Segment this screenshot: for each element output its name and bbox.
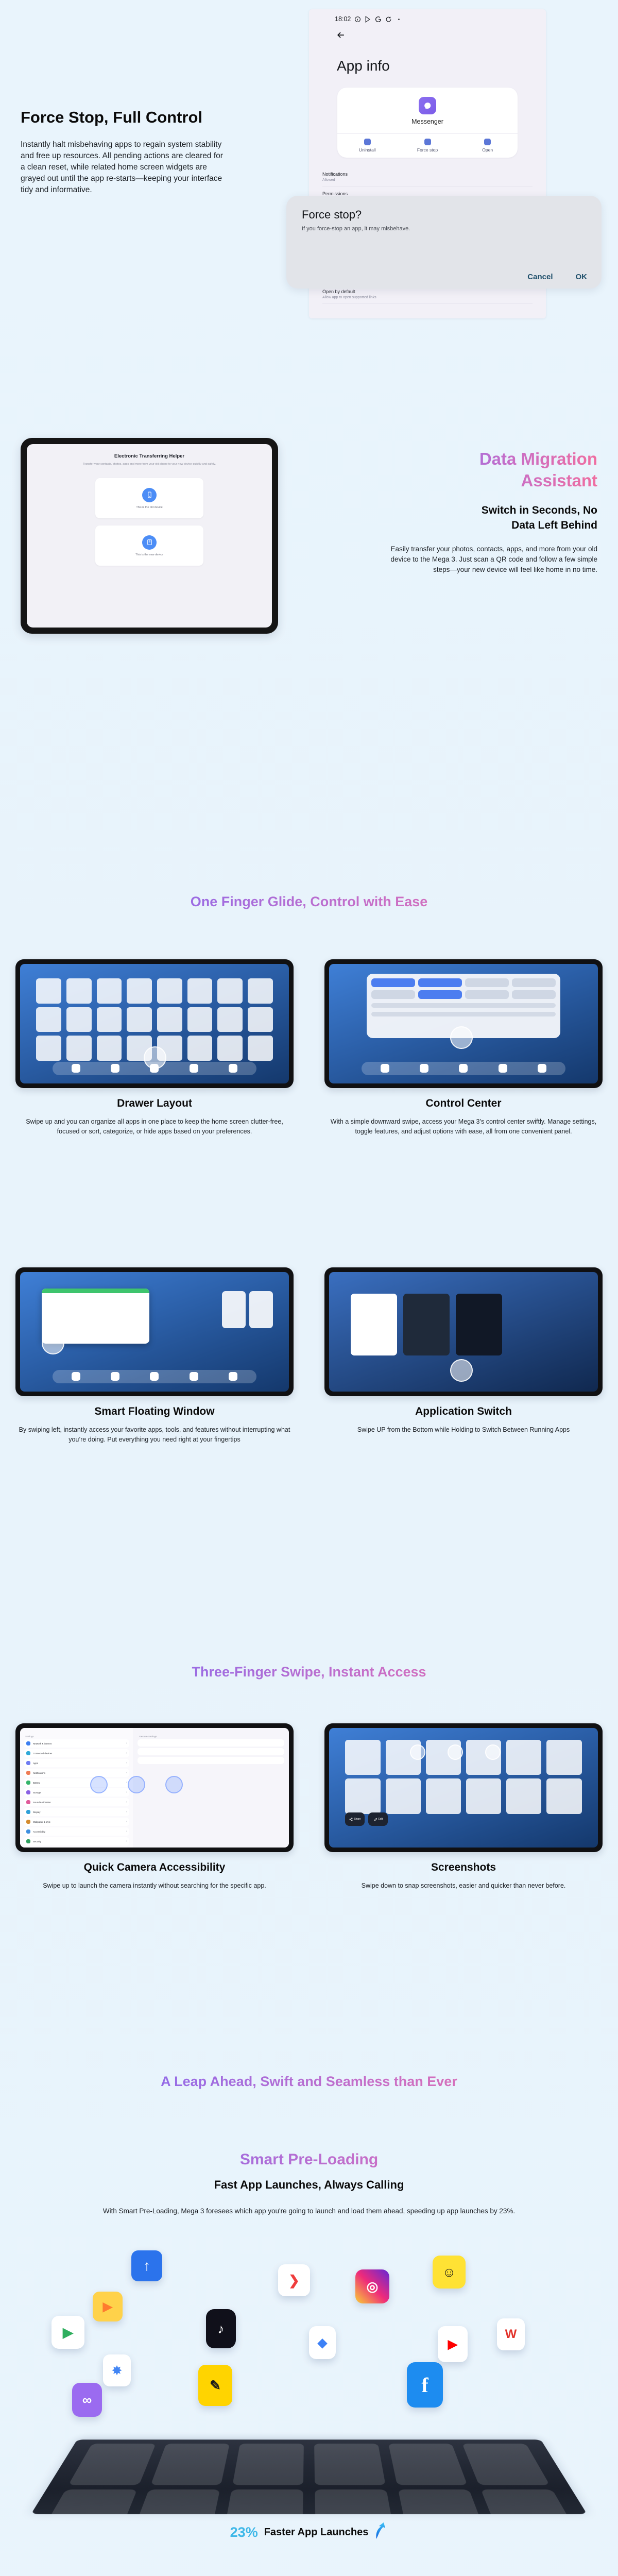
- app-icon[interactable]: [36, 978, 61, 1004]
- instagram-icon: ◎: [355, 2269, 389, 2303]
- app-icon[interactable]: [386, 1778, 421, 1814]
- app-icon[interactable]: [127, 1007, 152, 1032]
- tile-dnd[interactable]: [465, 978, 509, 987]
- tile-battery-saver[interactable]: [512, 990, 556, 999]
- app-icon[interactable]: [36, 1036, 61, 1061]
- chevron-right-icon: ›: [126, 1791, 127, 1794]
- control-center-caption: Control Center: [324, 1097, 603, 1110]
- settings-row-label: Security: [33, 1840, 41, 1843]
- status-bar: 18:02: [309, 9, 546, 23]
- card-application-switch: Application Switch Swipe UP from the Bot…: [324, 1267, 603, 1435]
- one-finger-heading-wrap: One Finger Glide, Control with Ease: [0, 894, 618, 910]
- app-icon[interactable]: [66, 978, 92, 1004]
- three-finger-indicator-3: [165, 1776, 183, 1793]
- preloading-stat-label: Faster App Launches: [264, 2527, 369, 2538]
- app-icon[interactable]: [150, 2444, 230, 2485]
- settings-row[interactable]: Apps›: [24, 1759, 129, 1767]
- settings-row-label: Sound & vibration: [33, 1801, 51, 1804]
- preloading-title-wrap: Smart Pre-Loading: [0, 2151, 618, 2168]
- three-finger-indicator-2: [128, 1776, 145, 1793]
- app-icon[interactable]: [97, 1036, 122, 1061]
- app-icon[interactable]: [462, 2444, 550, 2485]
- dock-icon[interactable]: [459, 1064, 468, 1073]
- preloading-stat: 23% Faster App Launches: [0, 2522, 618, 2543]
- control-center-body: With a simple downward swipe, access you…: [324, 1117, 603, 1137]
- game-icon: ☺: [433, 2256, 466, 2289]
- old-device-icon: [142, 488, 157, 502]
- app-icon[interactable]: [345, 1778, 380, 1814]
- tile-hotspot[interactable]: [465, 990, 509, 999]
- wps-office-icon: W: [497, 2318, 525, 2350]
- force-stop-button[interactable]: Force stop: [398, 134, 458, 158]
- notes-icon: ✎: [198, 2365, 232, 2406]
- migration-screen-sub: Transfer your contacts, photos, apps and…: [72, 462, 227, 467]
- three-finger-indicator-1: [90, 1776, 108, 1793]
- dock-icon[interactable]: [190, 1064, 198, 1073]
- recent-card[interactable]: [351, 1294, 397, 1355]
- three-finger-indicator-1: [410, 1744, 425, 1760]
- swipe-up-indicator: [144, 1046, 166, 1069]
- dock-icon[interactable]: [381, 1064, 389, 1073]
- settings-row[interactable]: Wallpaper & style›: [24, 1818, 129, 1826]
- preloading-title: Smart Pre-Loading: [0, 2151, 618, 2168]
- app-icon[interactable]: [68, 2444, 156, 2485]
- device-frame: Share Edit: [324, 1723, 603, 1852]
- tile-rotate[interactable]: [371, 990, 415, 999]
- network-icon: [26, 1741, 30, 1745]
- dialog-actions: Cancel OK: [527, 273, 587, 281]
- app-icon[interactable]: [129, 2489, 220, 2514]
- section-app-force-stop: App Force Stop Force Stop, Full Control …: [0, 0, 618, 428]
- dock-icon[interactable]: [538, 1064, 546, 1073]
- settings-list-pane: Settings Network & internet› Connected d…: [20, 1728, 133, 1848]
- detail-row[interactable]: [138, 1739, 284, 1747]
- dock-icon[interactable]: [72, 1372, 80, 1381]
- open-button[interactable]: Open: [457, 134, 518, 158]
- app-icon[interactable]: [466, 1778, 501, 1814]
- device-screen: [20, 964, 289, 1083]
- app-icon[interactable]: [248, 978, 273, 1004]
- tablet-3d-mockup: [31, 2439, 587, 2514]
- card-drawer-layout: Drawer Layout Swipe up and you can organ…: [15, 959, 294, 1137]
- tile-flashlight[interactable]: [512, 978, 556, 987]
- app-icon[interactable]: [66, 1036, 92, 1061]
- preloading-subtitle: Fast App Launches, Always Calling: [0, 2178, 618, 2192]
- settings-detail-label: Gesture Settings: [139, 1735, 284, 1738]
- battery-icon: [26, 1781, 30, 1785]
- play-store-icon: [365, 16, 371, 23]
- app-icon[interactable]: [388, 2444, 468, 2485]
- recent-card[interactable]: [222, 1291, 246, 1328]
- app-icon[interactable]: [36, 1007, 61, 1032]
- old-device-label: This is the old device: [136, 506, 162, 509]
- dock-icon[interactable]: [229, 1064, 237, 1073]
- device-frame: [15, 959, 294, 1088]
- drawer-layout-body: Swipe up and you can organize all apps i…: [15, 1117, 294, 1137]
- share-label: Share: [354, 1818, 360, 1821]
- settings-row-label: Connected devices: [33, 1752, 52, 1755]
- settings-screen: Settings Network & internet› Connected d…: [20, 1728, 289, 1848]
- row-sub: Allow app to open supported links: [322, 296, 533, 299]
- migration-tablet-mockup: Electronic Transferring Helper Transfer …: [21, 438, 278, 634]
- app-icon[interactable]: [157, 978, 182, 1004]
- chevron-right-icon: ›: [126, 1771, 127, 1774]
- app-icon[interactable]: [546, 1778, 581, 1814]
- tile-bluetooth[interactable]: [418, 978, 462, 987]
- app-icon[interactable]: [345, 1740, 380, 1775]
- chevron-right-icon: ›: [126, 1830, 127, 1833]
- preloading-subtitle-wrap: Fast App Launches, Always Calling: [0, 2178, 618, 2192]
- home-screen-wallpaper: [20, 1272, 289, 1392]
- device-frame: [15, 1267, 294, 1396]
- recent-card[interactable]: [456, 1294, 502, 1355]
- migration-title-line1: Data Migration: [376, 448, 597, 470]
- device-screen: Share Edit: [329, 1728, 598, 1848]
- card-quick-camera: Settings Network & internet› Connected d…: [15, 1723, 294, 1891]
- screenshots-body: Swipe down to snap screenshots, easier a…: [324, 1881, 603, 1891]
- tablet-screen: Electronic Transferring Helper Transfer …: [27, 444, 272, 628]
- device-frame: [324, 959, 603, 1088]
- app-icon[interactable]: [187, 1007, 213, 1032]
- three-finger-heading: Three-Finger Swipe, Instant Access: [0, 1664, 618, 1680]
- floating-window-titlebar: [42, 1289, 149, 1293]
- new-device-option[interactable]: This is the new device: [95, 526, 203, 566]
- migration-subtitle-line1: Switch in Seconds, No: [376, 503, 597, 518]
- settings-row[interactable]: Sound & vibration›: [24, 1798, 129, 1806]
- tablet-app-grid: [55, 2444, 563, 2509]
- app-icon[interactable]: [66, 1007, 92, 1032]
- preloading-scene: ↑ ▶ ❯ ◎ ☺ ▶ ♪ ◆ ▶ W ✸ ✎ ∞ f: [0, 2246, 618, 2514]
- swipe-left-indicator: [42, 1332, 64, 1354]
- home-screen-wallpaper: [329, 964, 598, 1083]
- screenshot-action-bar: Share Edit: [345, 1812, 388, 1826]
- settings-row[interactable]: Connected devices›: [24, 1749, 129, 1757]
- dialog-title: Force stop?: [302, 208, 586, 222]
- app-icon[interactable]: [217, 1007, 243, 1032]
- edit-label: Edit: [379, 1818, 383, 1821]
- settings-detail-pane: Gesture Settings: [133, 1728, 289, 1848]
- detail-row[interactable]: [138, 1757, 284, 1764]
- quick-tiles: [371, 978, 556, 999]
- dock: [362, 1062, 566, 1075]
- chevron-right-icon: ›: [126, 1742, 127, 1745]
- settings-row-label: Apps: [33, 1762, 38, 1765]
- settings-row-label: Network & internet: [33, 1742, 51, 1745]
- row-heading: Open by default: [322, 289, 533, 294]
- app-grid: [345, 1740, 581, 1814]
- three-finger-indicator-2: [448, 1744, 463, 1760]
- youtube-icon: ▶: [438, 2326, 468, 2362]
- force-stop-dialog: Force stop? If you force-stop an app, it…: [286, 196, 602, 289]
- kids-video-icon: ▶: [93, 2292, 123, 2321]
- feature-page: App Force Stop Force Stop, Full Control …: [0, 0, 618, 2576]
- app-switch-cards: [351, 1294, 502, 1355]
- dock-icon[interactable]: [229, 1372, 237, 1381]
- application-switch-caption: Application Switch: [324, 1405, 603, 1418]
- new-device-label: This is the new device: [135, 553, 163, 556]
- info-icon: [354, 16, 361, 23]
- dock-icon[interactable]: [111, 1372, 119, 1381]
- tile-wifi[interactable]: [371, 978, 415, 987]
- card-control-center: Control Center With a simple downward sw…: [324, 959, 603, 1137]
- app-icon[interactable]: [157, 1007, 182, 1032]
- chevron-right-icon: ›: [126, 1820, 127, 1823]
- screenshots-caption: Screenshots: [324, 1861, 603, 1874]
- card-screenshots: Share Edit Screenshots Swipe down to sna…: [324, 1723, 603, 1891]
- application-switch-body: Swipe UP from the Bottom while Holding t…: [324, 1425, 603, 1435]
- edit-button[interactable]: Edit: [368, 1812, 388, 1826]
- settings-row-label: Storage: [33, 1791, 41, 1794]
- migration-copy: Data Migration Assistant Switch in Secon…: [376, 448, 597, 575]
- app-icon[interactable]: [506, 1778, 541, 1814]
- device-screen: Settings Network & internet› Connected d…: [20, 1728, 289, 1848]
- settings-row[interactable]: Privacy›: [24, 1847, 129, 1848]
- settings-row-label: Accessibility: [33, 1831, 45, 1833]
- volume-slider[interactable]: [371, 1012, 556, 1016]
- detail-row[interactable]: [138, 1748, 284, 1755]
- home-screen-wallpaper: Share Edit: [329, 1728, 598, 1848]
- uninstall-label: Uninstall: [359, 147, 376, 152]
- recent-card-stack: [222, 1291, 273, 1328]
- preloading-stat-value: 23%: [230, 2524, 258, 2540]
- app-icon[interactable]: [217, 978, 243, 1004]
- app-icon[interactable]: [222, 2489, 303, 2514]
- app-icon[interactable]: [36, 2489, 137, 2514]
- old-device-option[interactable]: This is the old device: [95, 478, 203, 518]
- home-screen-wallpaper: [20, 964, 289, 1083]
- app-icon[interactable]: [248, 1036, 273, 1061]
- swipe-down-indicator: [450, 1026, 473, 1049]
- maps-icon: ◆: [309, 2326, 336, 2359]
- dot-icon: [396, 16, 402, 23]
- browser-icon: ❯: [278, 2264, 310, 2296]
- settings-group-label: Settings: [25, 1735, 129, 1738]
- dock-icon[interactable]: [150, 1372, 159, 1381]
- card-smart-floating-window: Smart Floating Window By swiping left, i…: [15, 1267, 294, 1445]
- migration-screen-title: Electronic Transferring Helper: [114, 453, 184, 459]
- brightness-slider[interactable]: [371, 1003, 556, 1008]
- migration-subtitle-line2: Data Left Behind: [376, 518, 597, 533]
- settings-row[interactable]: Network & internet›: [24, 1739, 129, 1748]
- uninstall-button[interactable]: Uninstall: [337, 134, 398, 158]
- settings-row[interactable]: Battery›: [24, 1778, 129, 1787]
- settings-row-label: Wallpaper & style: [33, 1821, 50, 1823]
- tile-airplane[interactable]: [418, 990, 462, 999]
- dock-icon[interactable]: [420, 1064, 428, 1073]
- edit-icon: [374, 1818, 377, 1821]
- tiktok-icon: ♪: [206, 2309, 236, 2348]
- settings-row[interactable]: Storage›: [24, 1788, 129, 1797]
- facebook-icon: f: [407, 2362, 443, 2408]
- device-screen: [329, 964, 598, 1083]
- chevron-right-icon: ›: [126, 1781, 127, 1784]
- apps-icon: [26, 1761, 30, 1765]
- app-icon[interactable]: [398, 2489, 489, 2514]
- device-screen: [329, 1272, 598, 1392]
- app-icon[interactable]: [217, 1036, 243, 1061]
- settings-row[interactable]: Notifications›: [24, 1769, 129, 1777]
- app-info-card: Messenger Uninstall Force stop Open: [337, 88, 518, 158]
- devices-icon: [26, 1751, 30, 1755]
- dock-icon[interactable]: [72, 1064, 80, 1073]
- app-icon[interactable]: [426, 1778, 461, 1814]
- storage-icon: [26, 1790, 30, 1794]
- drawer-layout-caption: Drawer Layout: [15, 1097, 294, 1110]
- ok-button[interactable]: OK: [576, 273, 588, 281]
- stop-icon: [424, 139, 431, 145]
- new-device-icon: [142, 535, 157, 550]
- app-icon[interactable]: [187, 978, 213, 1004]
- photos-icon: ✸: [103, 2354, 131, 2386]
- smart-floating-window-caption: Smart Floating Window: [15, 1405, 294, 1418]
- chevron-right-icon: ›: [126, 1761, 127, 1765]
- force-stop-label: Force stop: [417, 147, 438, 152]
- settings-row-label: Battery: [33, 1782, 40, 1784]
- settings-row-label: Display: [33, 1811, 40, 1814]
- quick-camera-caption: Quick Camera Accessibility: [15, 1861, 294, 1874]
- dock: [53, 1370, 257, 1383]
- arrow-left-icon: [336, 30, 346, 40]
- quick-camera-body: Swipe up to launch the camera instantly …: [15, 1881, 294, 1891]
- share-button[interactable]: Share: [345, 1812, 365, 1826]
- row-sub: Allowed: [322, 178, 533, 182]
- smart-floating-window-body: By swiping left, instantly access your f…: [15, 1425, 294, 1445]
- back-button[interactable]: [309, 23, 546, 42]
- migration-body: Easily transfer your photos, contacts, a…: [376, 544, 597, 575]
- share-icon: [349, 1818, 353, 1821]
- chevron-right-icon: ›: [126, 1840, 127, 1843]
- dock-icon[interactable]: [190, 1372, 198, 1381]
- device-screen: [20, 1272, 289, 1392]
- chevron-right-icon: ›: [126, 1810, 127, 1814]
- infinity-icon: ∞: [72, 2383, 102, 2417]
- sync-icon: [385, 16, 392, 23]
- app-icon[interactable]: [248, 1007, 273, 1032]
- notifications-icon: [26, 1771, 30, 1775]
- page-title: App info: [309, 42, 546, 74]
- app-icon[interactable]: [314, 2444, 385, 2485]
- chevron-right-icon: ›: [126, 1801, 127, 1804]
- chevron-right-icon: ›: [126, 1752, 127, 1755]
- dock-icon[interactable]: [499, 1064, 507, 1073]
- three-finger-heading-wrap: Three-Finger Swipe, Instant Access: [0, 1664, 618, 1680]
- open-label: Open: [482, 147, 493, 152]
- home-screen-wallpaper: [329, 1272, 598, 1392]
- accessibility-icon: [26, 1829, 30, 1834]
- recent-card[interactable]: [403, 1294, 450, 1355]
- row-heading: Notifications: [322, 172, 533, 177]
- app-icon[interactable]: [315, 2489, 396, 2514]
- open-icon: [484, 139, 491, 145]
- leap-heading-wrap: A Leap Ahead, Swift and Seamless than Ev…: [0, 2074, 618, 2090]
- wallpaper-icon: [26, 1820, 30, 1824]
- dialog-message: If you force-stop an app, it may misbeha…: [302, 226, 586, 232]
- google-icon: [375, 16, 382, 23]
- force-stop-copy: App Force Stop Force Stop, Full Control …: [21, 77, 237, 196]
- device-frame: Settings Network & internet› Connected d…: [15, 1723, 294, 1852]
- security-icon: [26, 1839, 30, 1843]
- app-icon[interactable]: [97, 1007, 122, 1032]
- settings-row[interactable]: Security›: [24, 1837, 129, 1845]
- swipe-up-hold-indicator: [450, 1359, 473, 1382]
- settings-row[interactable]: Display›: [24, 1808, 129, 1816]
- display-icon: [26, 1810, 30, 1814]
- app-icon[interactable]: [481, 2489, 582, 2514]
- settings-row[interactable]: Accessibility›: [24, 1827, 129, 1836]
- messenger-icon: [419, 97, 436, 114]
- force-stop-title: App Force Stop: [21, 77, 237, 104]
- app-icon[interactable]: [506, 1740, 541, 1775]
- preloading-body-wrap: With Smart Pre-Loading, Mega 3 foresees …: [0, 2206, 618, 2216]
- preloading-body: With Smart Pre-Loading, Mega 3 foresees …: [28, 2206, 590, 2216]
- dock-icon[interactable]: [111, 1064, 119, 1073]
- one-finger-heading: One Finger Glide, Control with Ease: [0, 894, 618, 910]
- navigation-icon: ↑: [131, 2250, 162, 2281]
- cancel-button[interactable]: Cancel: [527, 273, 553, 281]
- arrow-up-icon: [374, 2522, 388, 2543]
- trash-icon: [364, 139, 371, 145]
- list-item[interactable]: Notifications Allowed: [322, 167, 533, 187]
- app-icon[interactable]: [233, 2444, 304, 2485]
- force-stop-subtitle: Force Stop, Full Control: [21, 107, 237, 128]
- sound-icon: [26, 1800, 30, 1804]
- app-icon[interactable]: [187, 1036, 213, 1061]
- leap-heading: A Leap Ahead, Swift and Seamless than Ev…: [0, 2074, 618, 2090]
- device-frame: [324, 1267, 603, 1396]
- settings-row-label: Notifications: [33, 1772, 45, 1774]
- status-time: 18:02: [335, 15, 351, 23]
- recent-card[interactable]: [249, 1291, 273, 1328]
- app-icon[interactable]: [546, 1740, 581, 1775]
- video-player-icon: ▶: [51, 2316, 84, 2349]
- section-data-migration: Electronic Transferring Helper Transfer …: [0, 428, 618, 855]
- force-stop-body: Instantly halt misbehaving apps to regai…: [21, 139, 224, 196]
- app-icon[interactable]: [127, 978, 152, 1004]
- app-name: Messenger: [337, 118, 518, 125]
- app-action-bar: Uninstall Force stop Open: [337, 133, 518, 158]
- migration-title-line2: Assistant: [376, 470, 597, 492]
- app-icon[interactable]: [97, 978, 122, 1004]
